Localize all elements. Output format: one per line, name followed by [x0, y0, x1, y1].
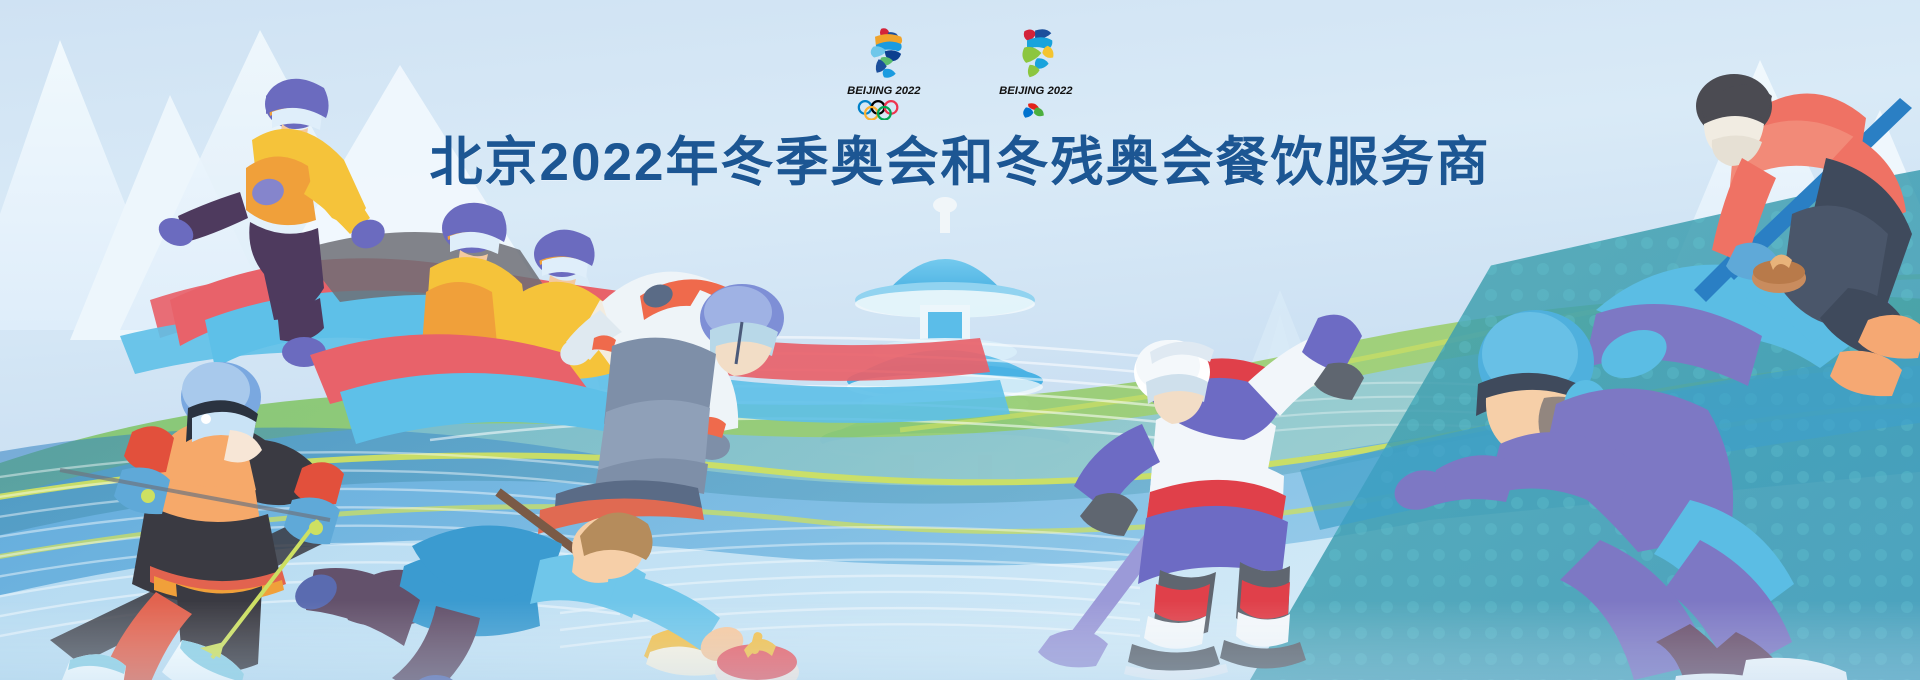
paralympic-logo-block: BEIJING 2022 — [981, 26, 1091, 120]
page-title: 北京2022年冬季奥会和冬残奥会餐饮服务商 — [0, 120, 1920, 196]
paralympic-wordmark-text: BEIJING 2022 — [999, 85, 1073, 97]
olympic-wordmark-beijing-2022: BEIJING 2022 — [830, 83, 938, 97]
olympic-wordmark-text: BEIJING 2022 — [847, 85, 921, 97]
olympic-sponsor-banner: BEIJING 2022 — [0, 0, 1920, 680]
olympic-rings-icon — [854, 100, 913, 120]
olympic-logo-block: BEIJING 2022 — [829, 26, 939, 120]
beijing-2022-paralympic-emblem-icon — [1009, 26, 1063, 80]
paralympic-wordmark-beijing-2022: BEIJING 2022 — [982, 83, 1090, 97]
games-logos: BEIJING 2022 — [0, 26, 1920, 120]
beijing-2022-olympic-emblem-icon — [857, 26, 911, 80]
agitos-icon — [1006, 100, 1065, 120]
